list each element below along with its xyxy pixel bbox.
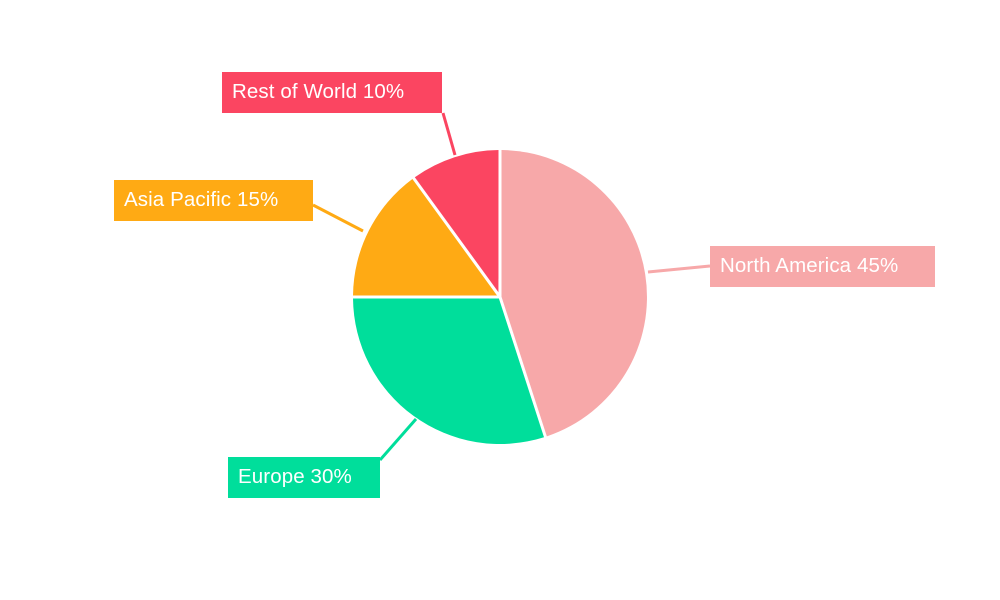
- pie-slice-label-text: Europe 30%: [238, 467, 352, 488]
- pie-slice-label[interactable]: Rest of World 10%: [222, 72, 442, 113]
- slice-leader-line: [380, 419, 416, 460]
- pie-slice-label-text: North America 45%: [720, 256, 898, 277]
- pie-slice-label-text: Rest of World 10%: [232, 82, 404, 103]
- pie-slice-label-text: Asia Pacific 15%: [124, 190, 278, 211]
- pie-slices-group: [353, 150, 647, 444]
- slice-leader-line: [313, 205, 363, 231]
- slice-leader-line: [648, 266, 710, 272]
- pie-slice-label[interactable]: North America 45%: [710, 246, 935, 287]
- pie-chart-figure: North America 45%Europe 30%Asia Pacific …: [0, 0, 1000, 600]
- pie-slice-label[interactable]: Asia Pacific 15%: [114, 180, 313, 221]
- slice-leader-line: [443, 113, 455, 155]
- pie-chart-canvas: [0, 0, 1000, 600]
- pie-slice-label[interactable]: Europe 30%: [228, 457, 380, 498]
